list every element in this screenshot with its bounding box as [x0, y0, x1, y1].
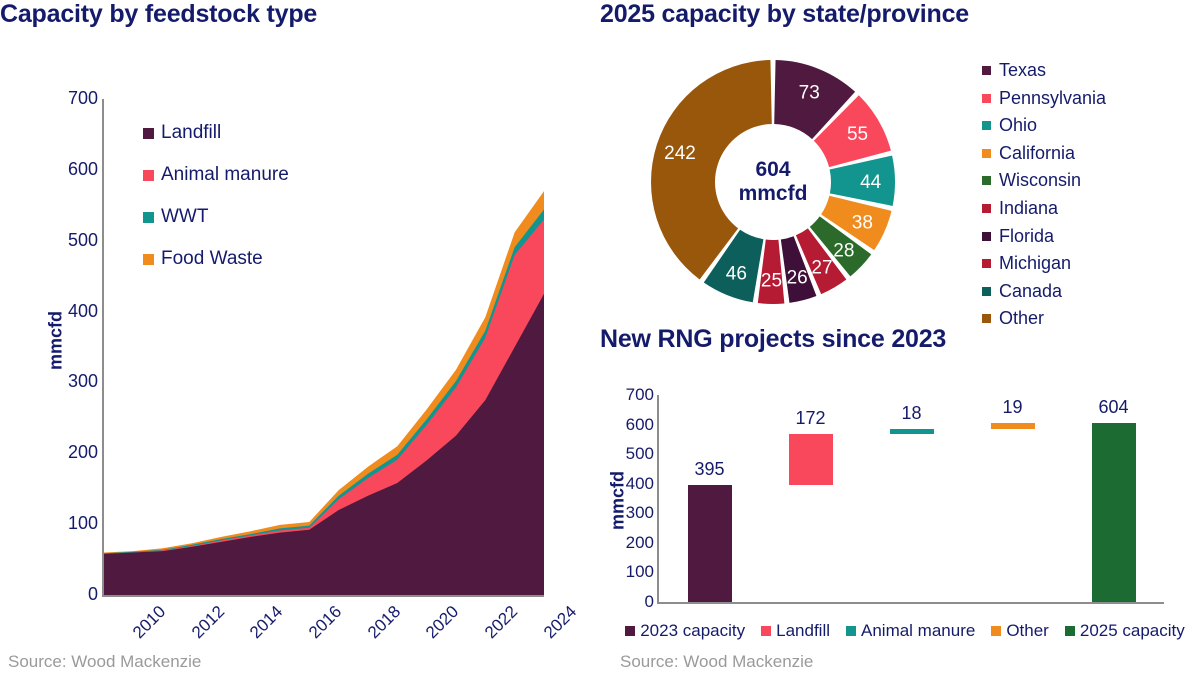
waterfall-legend-item[interactable]: Other — [991, 621, 1049, 641]
area-x-tick-label: 2018 — [364, 602, 405, 643]
area-y-tick-label: 400 — [38, 301, 98, 322]
legend-swatch-icon — [982, 94, 991, 103]
waterfall-bar-value: 19 — [973, 397, 1053, 418]
donut-slice-value: 26 — [787, 268, 808, 289]
legend-swatch-icon — [846, 626, 856, 636]
donut-legend-item[interactable]: Canada — [982, 281, 1106, 302]
waterfall-bar-value: 395 — [670, 459, 750, 480]
donut-slice-value: 46 — [726, 264, 747, 285]
waterfall-chart-source: Source: Wood Mackenzie — [620, 652, 813, 672]
area-chart-panel: Capacity by feedstock type mmcfd 0100200… — [0, 0, 600, 694]
donut-legend-item[interactable]: Indiana — [982, 198, 1106, 219]
waterfall-legend-label: 2025 capacity — [1080, 621, 1185, 641]
donut-legend-label: Indiana — [999, 198, 1058, 219]
waterfall-legend-item[interactable]: 2023 capacity — [625, 621, 745, 641]
waterfall-legend-item[interactable]: 2025 capacity — [1065, 621, 1185, 641]
waterfall-chart-legend: 2023 capacityLandfillAnimal manureOther2… — [620, 621, 1190, 641]
waterfall-y-tick-label: 700 — [600, 385, 654, 405]
donut-legend-item[interactable]: Wisconsin — [982, 170, 1106, 191]
donut-legend-item[interactable]: Michigan — [982, 253, 1106, 274]
waterfall-legend-item[interactable]: Landfill — [761, 621, 830, 641]
donut-legend-item[interactable]: California — [982, 143, 1106, 164]
area-y-tick-label: 600 — [38, 159, 98, 180]
area-legend-item[interactable]: WWT — [143, 206, 289, 228]
waterfall-chart-y-axis-line — [657, 395, 659, 602]
area-x-tick-label: 2024 — [540, 602, 581, 643]
donut-chart-svg: 735544382827262546242 — [628, 52, 918, 312]
area-x-tick-label: 2014 — [246, 602, 287, 643]
area-legend-label: Food Waste — [161, 248, 263, 270]
donut-slice-value: 28 — [833, 240, 854, 261]
area-y-tick-label: 700 — [38, 88, 98, 109]
donut-legend-item[interactable]: Florida — [982, 226, 1106, 247]
waterfall-y-tick-label: 300 — [600, 503, 654, 523]
area-x-tick-label: 2010 — [129, 602, 170, 643]
legend-swatch-icon — [143, 128, 154, 139]
waterfall-y-tick-label: 0 — [600, 592, 654, 612]
waterfall-bar[interactable] — [789, 434, 833, 485]
donut-legend-label: Wisconsin — [999, 170, 1081, 191]
donut-legend-item[interactable]: Pennsylvania — [982, 88, 1106, 109]
area-chart-source: Source: Wood Mackenzie — [8, 652, 201, 672]
donut-legend-item[interactable]: Ohio — [982, 115, 1106, 136]
legend-swatch-icon — [982, 204, 991, 213]
area-legend-item[interactable]: Landfill — [143, 122, 289, 144]
waterfall-chart-plot: 3951721819604 — [659, 395, 1164, 602]
waterfall-bar[interactable] — [991, 423, 1035, 429]
legend-swatch-icon — [143, 254, 154, 265]
legend-swatch-icon — [625, 626, 635, 636]
donut-slice-value: 25 — [761, 271, 782, 292]
donut-slice-value: 242 — [664, 143, 696, 164]
area-legend-label: Landfill — [161, 122, 221, 144]
waterfall-chart-x-axis-line — [657, 602, 1164, 604]
waterfall-bar[interactable] — [688, 485, 732, 602]
donut-legend-label: Ohio — [999, 115, 1037, 136]
legend-swatch-icon — [982, 314, 991, 323]
area-x-tick-label: 2020 — [422, 602, 463, 643]
donut-legend-item[interactable]: Texas — [982, 60, 1106, 81]
waterfall-bar-value: 604 — [1074, 397, 1154, 418]
donut-slice-value: 55 — [847, 124, 868, 145]
area-y-tick-label: 0 — [38, 584, 98, 605]
donut-slice-value: 44 — [860, 172, 882, 193]
waterfall-chart-title: New RNG projects since 2023 — [600, 325, 1195, 354]
legend-swatch-icon — [982, 232, 991, 241]
donut-chart-legend: TexasPennsylvaniaOhioCaliforniaWisconsin… — [982, 60, 1106, 336]
waterfall-legend-label: Landfill — [776, 621, 830, 641]
donut-slice-value: 73 — [799, 82, 820, 103]
area-x-tick-label: 2016 — [305, 602, 346, 643]
area-y-tick-label: 200 — [38, 442, 98, 463]
waterfall-legend-item[interactable]: Animal manure — [846, 621, 975, 641]
legend-swatch-icon — [143, 170, 154, 181]
donut-legend-label: California — [999, 143, 1075, 164]
waterfall-bar[interactable] — [1092, 423, 1136, 602]
legend-swatch-icon — [982, 259, 991, 268]
area-chart-title: Capacity by feedstock type — [0, 0, 600, 29]
area-chart-legend: LandfillAnimal manureWWTFood Waste — [143, 122, 289, 290]
waterfall-y-tick-label: 500 — [600, 444, 654, 464]
area-y-tick-label: 300 — [38, 371, 98, 392]
waterfall-y-tick-label: 600 — [600, 415, 654, 435]
area-y-tick-label: 500 — [38, 230, 98, 251]
waterfall-y-tick-label: 100 — [600, 562, 654, 582]
donut-legend-label: Pennsylvania — [999, 88, 1106, 109]
donut-legend-label: Florida — [999, 226, 1054, 247]
legend-swatch-icon — [761, 626, 771, 636]
area-x-tick-label: 2022 — [481, 602, 522, 643]
legend-swatch-icon — [982, 66, 991, 75]
donut-chart-panel: 2025 capacity by state/province 73554438… — [600, 0, 1195, 320]
area-legend-label: WWT — [161, 206, 208, 228]
waterfall-legend-label: Other — [1006, 621, 1049, 641]
waterfall-bar-value: 18 — [872, 403, 952, 424]
area-chart-y-axis-line — [102, 99, 104, 595]
legend-swatch-icon — [1065, 626, 1075, 636]
donut-legend-label: Michigan — [999, 253, 1071, 274]
donut-legend-label: Texas — [999, 60, 1046, 81]
waterfall-legend-label: 2023 capacity — [640, 621, 745, 641]
legend-swatch-icon — [982, 121, 991, 130]
donut-slice-value: 38 — [852, 212, 873, 233]
area-legend-item[interactable]: Animal manure — [143, 164, 289, 186]
legend-swatch-icon — [991, 626, 1001, 636]
legend-swatch-icon — [143, 212, 154, 223]
area-chart-x-axis-line — [102, 595, 544, 597]
area-x-tick-label: 2012 — [188, 602, 229, 643]
area-y-tick-label: 100 — [38, 513, 98, 534]
legend-swatch-icon — [982, 176, 991, 185]
waterfall-legend-label: Animal manure — [861, 621, 975, 641]
waterfall-chart-panel: New RNG projects since 2023 mmcfd 010020… — [600, 325, 1195, 694]
donut-legend-label: Canada — [999, 281, 1062, 302]
donut-chart-graphic: 735544382827262546242 604 mmcfd — [628, 52, 918, 312]
legend-swatch-icon — [982, 149, 991, 158]
legend-swatch-icon — [982, 287, 991, 296]
waterfall-bar[interactable] — [890, 429, 934, 434]
donut-slice-value: 27 — [811, 258, 832, 279]
waterfall-y-tick-label: 400 — [600, 474, 654, 494]
area-legend-label: Animal manure — [161, 164, 289, 186]
waterfall-y-tick-label: 200 — [600, 533, 654, 553]
area-legend-item[interactable]: Food Waste — [143, 248, 289, 270]
waterfall-bar-value: 172 — [771, 408, 851, 429]
donut-chart-title: 2025 capacity by state/province — [600, 0, 1195, 29]
